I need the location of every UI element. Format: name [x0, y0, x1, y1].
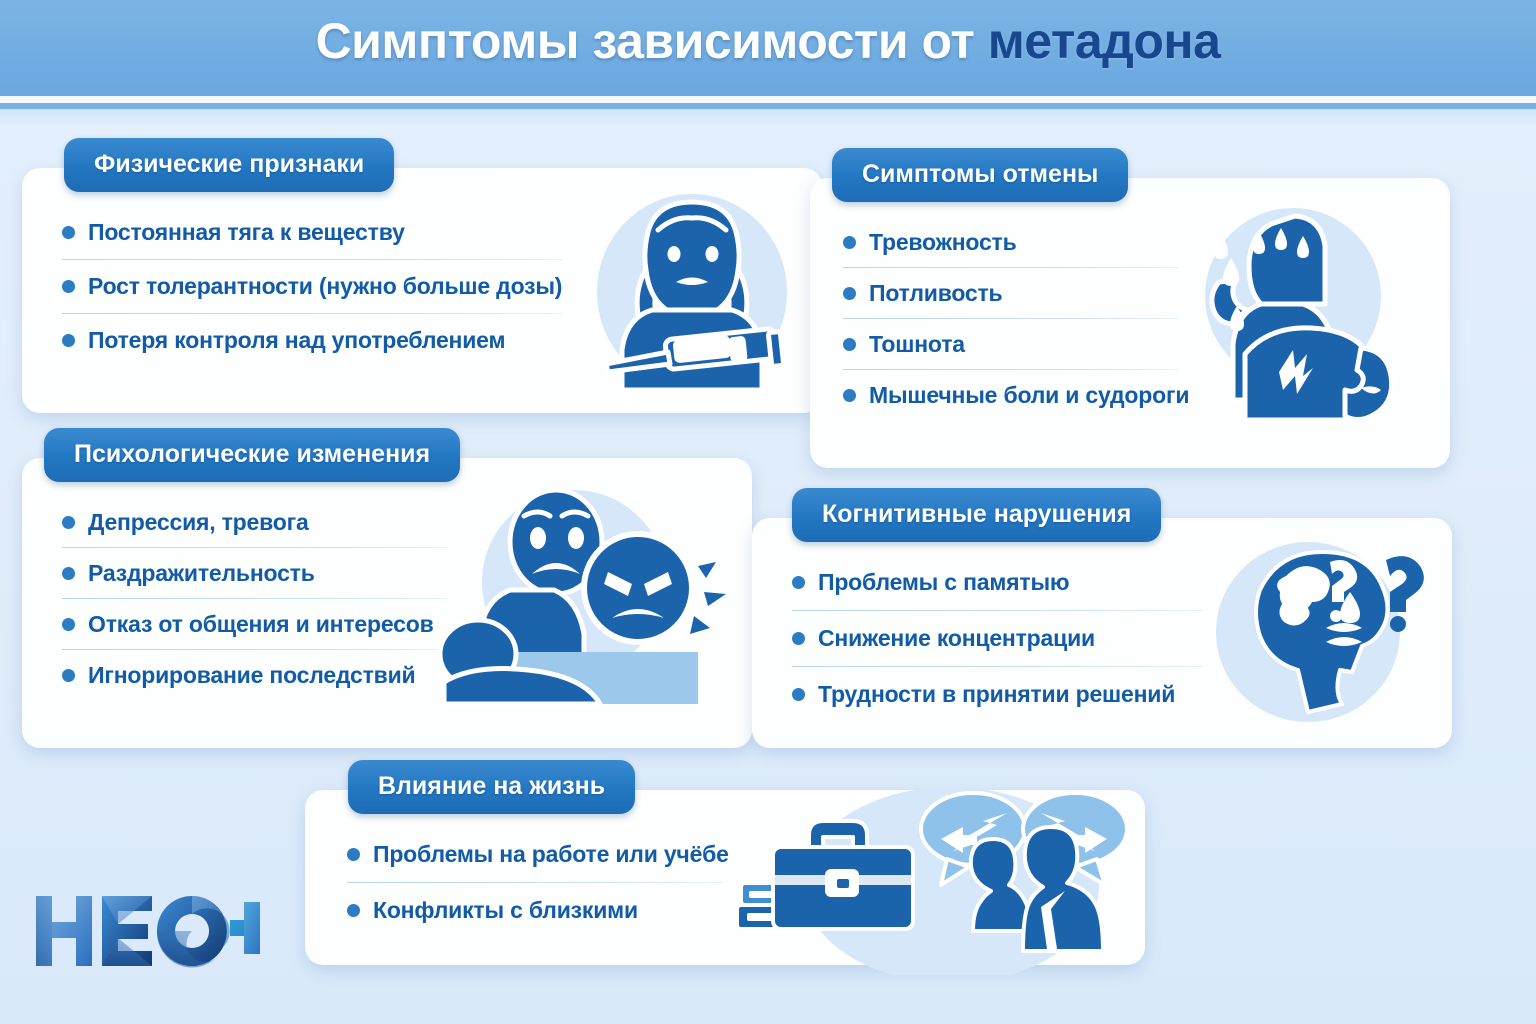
- list-divider: [843, 267, 1178, 268]
- list-divider: [792, 610, 1202, 611]
- bullet-icon: [843, 338, 856, 351]
- list-withdrawal-symptoms: Тревожность Потливость Тошнота Мышечные …: [843, 224, 1178, 413]
- infographic-root: Симптомы зависимости от метадона Физичес…: [0, 0, 1536, 1024]
- list-divider: [843, 318, 1178, 319]
- sad-and-angry-faces-icon: [432, 482, 732, 717]
- list-divider: [347, 882, 722, 883]
- page-title-main: Симптомы зависимости от: [316, 13, 988, 69]
- list-divider: [843, 369, 1178, 370]
- list-item: Потливость: [843, 275, 1178, 311]
- list-item: Мышечные боли и судороги: [843, 377, 1178, 413]
- bullet-icon: [62, 516, 75, 529]
- card-title-cognitive-impairment: Когнитивные нарушения: [792, 488, 1161, 542]
- list-item-label: Мышечные боли и судороги: [869, 382, 1189, 409]
- logo-neo-plus: [30, 886, 260, 981]
- list-item: Трудности в принятии решений: [792, 676, 1202, 713]
- bullet-icon: [843, 236, 856, 249]
- bullet-icon: [62, 618, 75, 631]
- list-item-label: Игнорирование последствий: [88, 662, 415, 689]
- bullet-icon: [347, 848, 360, 861]
- list-item-label: Потеря контроля над употреблением: [88, 327, 505, 354]
- list-item: Тошнота: [843, 326, 1178, 362]
- list-item: Рост толерантности (нужно больше дозы): [62, 268, 562, 305]
- bullet-icon: [62, 280, 75, 293]
- list-item-label: Отказ от общения и интересов: [88, 611, 434, 638]
- list-item-label: Проблемы с памятыю: [818, 569, 1069, 596]
- list-item-label: Постоянная тяга к веществу: [88, 219, 405, 246]
- list-item: Снижение концентрации: [792, 620, 1202, 657]
- list-item: Проблемы с памятыю: [792, 564, 1202, 601]
- list-item: Игнорирование последствий: [62, 657, 447, 693]
- list-item-label: Тревожность: [869, 229, 1017, 256]
- list-item: Отказ от общения и интересов: [62, 606, 447, 642]
- list-cognitive-impairment: Проблемы с памятыю Снижение концентрации…: [792, 564, 1202, 713]
- list-divider: [62, 649, 447, 650]
- list-item: Потеря контроля над употреблением: [62, 322, 562, 359]
- list-item: Постоянная тяга к веществу: [62, 214, 562, 251]
- list-item: Проблемы на работе или учёбе: [347, 836, 722, 873]
- list-item-label: Потливость: [869, 280, 1003, 307]
- list-item: Раздражительность: [62, 555, 447, 591]
- bullet-icon: [843, 389, 856, 402]
- list-item: Депрессия, тревога: [62, 504, 447, 540]
- bullet-icon: [792, 688, 805, 701]
- list-item-label: Проблемы на работе или учёбе: [373, 841, 729, 868]
- list-item-label: Трудности в принятии решений: [818, 681, 1175, 708]
- briefcase-books-conflict-people-icon: [735, 775, 1145, 980]
- list-divider: [62, 547, 447, 548]
- list-divider: [792, 666, 1202, 667]
- list-item: Тревожность: [843, 224, 1178, 260]
- bullet-icon: [843, 287, 856, 300]
- head-with-brain-question-marks-icon: [1190, 532, 1440, 737]
- bullet-icon: [62, 567, 75, 580]
- list-item: Конфликты с близкими: [347, 892, 722, 929]
- list-item-label: Снижение концентрации: [818, 625, 1095, 652]
- list-item-label: Депрессия, тревога: [88, 509, 309, 536]
- page-title-accent: метадона: [988, 13, 1221, 69]
- list-item-label: Конфликты с близкими: [373, 897, 638, 924]
- card-title-physical-signs: Физические признаки: [64, 138, 394, 192]
- bullet-icon: [62, 669, 75, 682]
- list-physical-signs: Постоянная тяга к веществу Рост толерант…: [62, 214, 562, 359]
- sweating-person-with-cramps-icon: [1175, 196, 1435, 451]
- list-psychological-changes: Депрессия, тревога Раздражительность Отк…: [62, 504, 447, 693]
- bullet-icon: [62, 334, 75, 347]
- list-life-impact: Проблемы на работе или учёбе Конфликты с…: [347, 836, 722, 929]
- stressed-person-with-syringe-icon: [570, 184, 810, 399]
- list-divider: [62, 598, 447, 599]
- bullet-icon: [792, 576, 805, 589]
- list-divider: [62, 259, 562, 260]
- card-title-life-impact: Влияние на жизнь: [348, 760, 635, 814]
- card-title-psychological-changes: Психологические изменения: [44, 428, 460, 482]
- list-item-label: Раздражительность: [88, 560, 315, 587]
- bullet-icon: [62, 226, 75, 239]
- list-item-label: Рост толерантности (нужно больше дозы): [88, 273, 562, 300]
- list-item-label: Тошнота: [869, 331, 965, 358]
- page-title: Симптомы зависимости от метадона: [0, 12, 1536, 70]
- header-fade: [0, 109, 1536, 125]
- bullet-icon: [792, 632, 805, 645]
- card-title-withdrawal-symptoms: Симптомы отмены: [832, 148, 1128, 202]
- bullet-icon: [347, 904, 360, 917]
- list-divider: [62, 313, 562, 314]
- header-divider-white: [0, 96, 1536, 103]
